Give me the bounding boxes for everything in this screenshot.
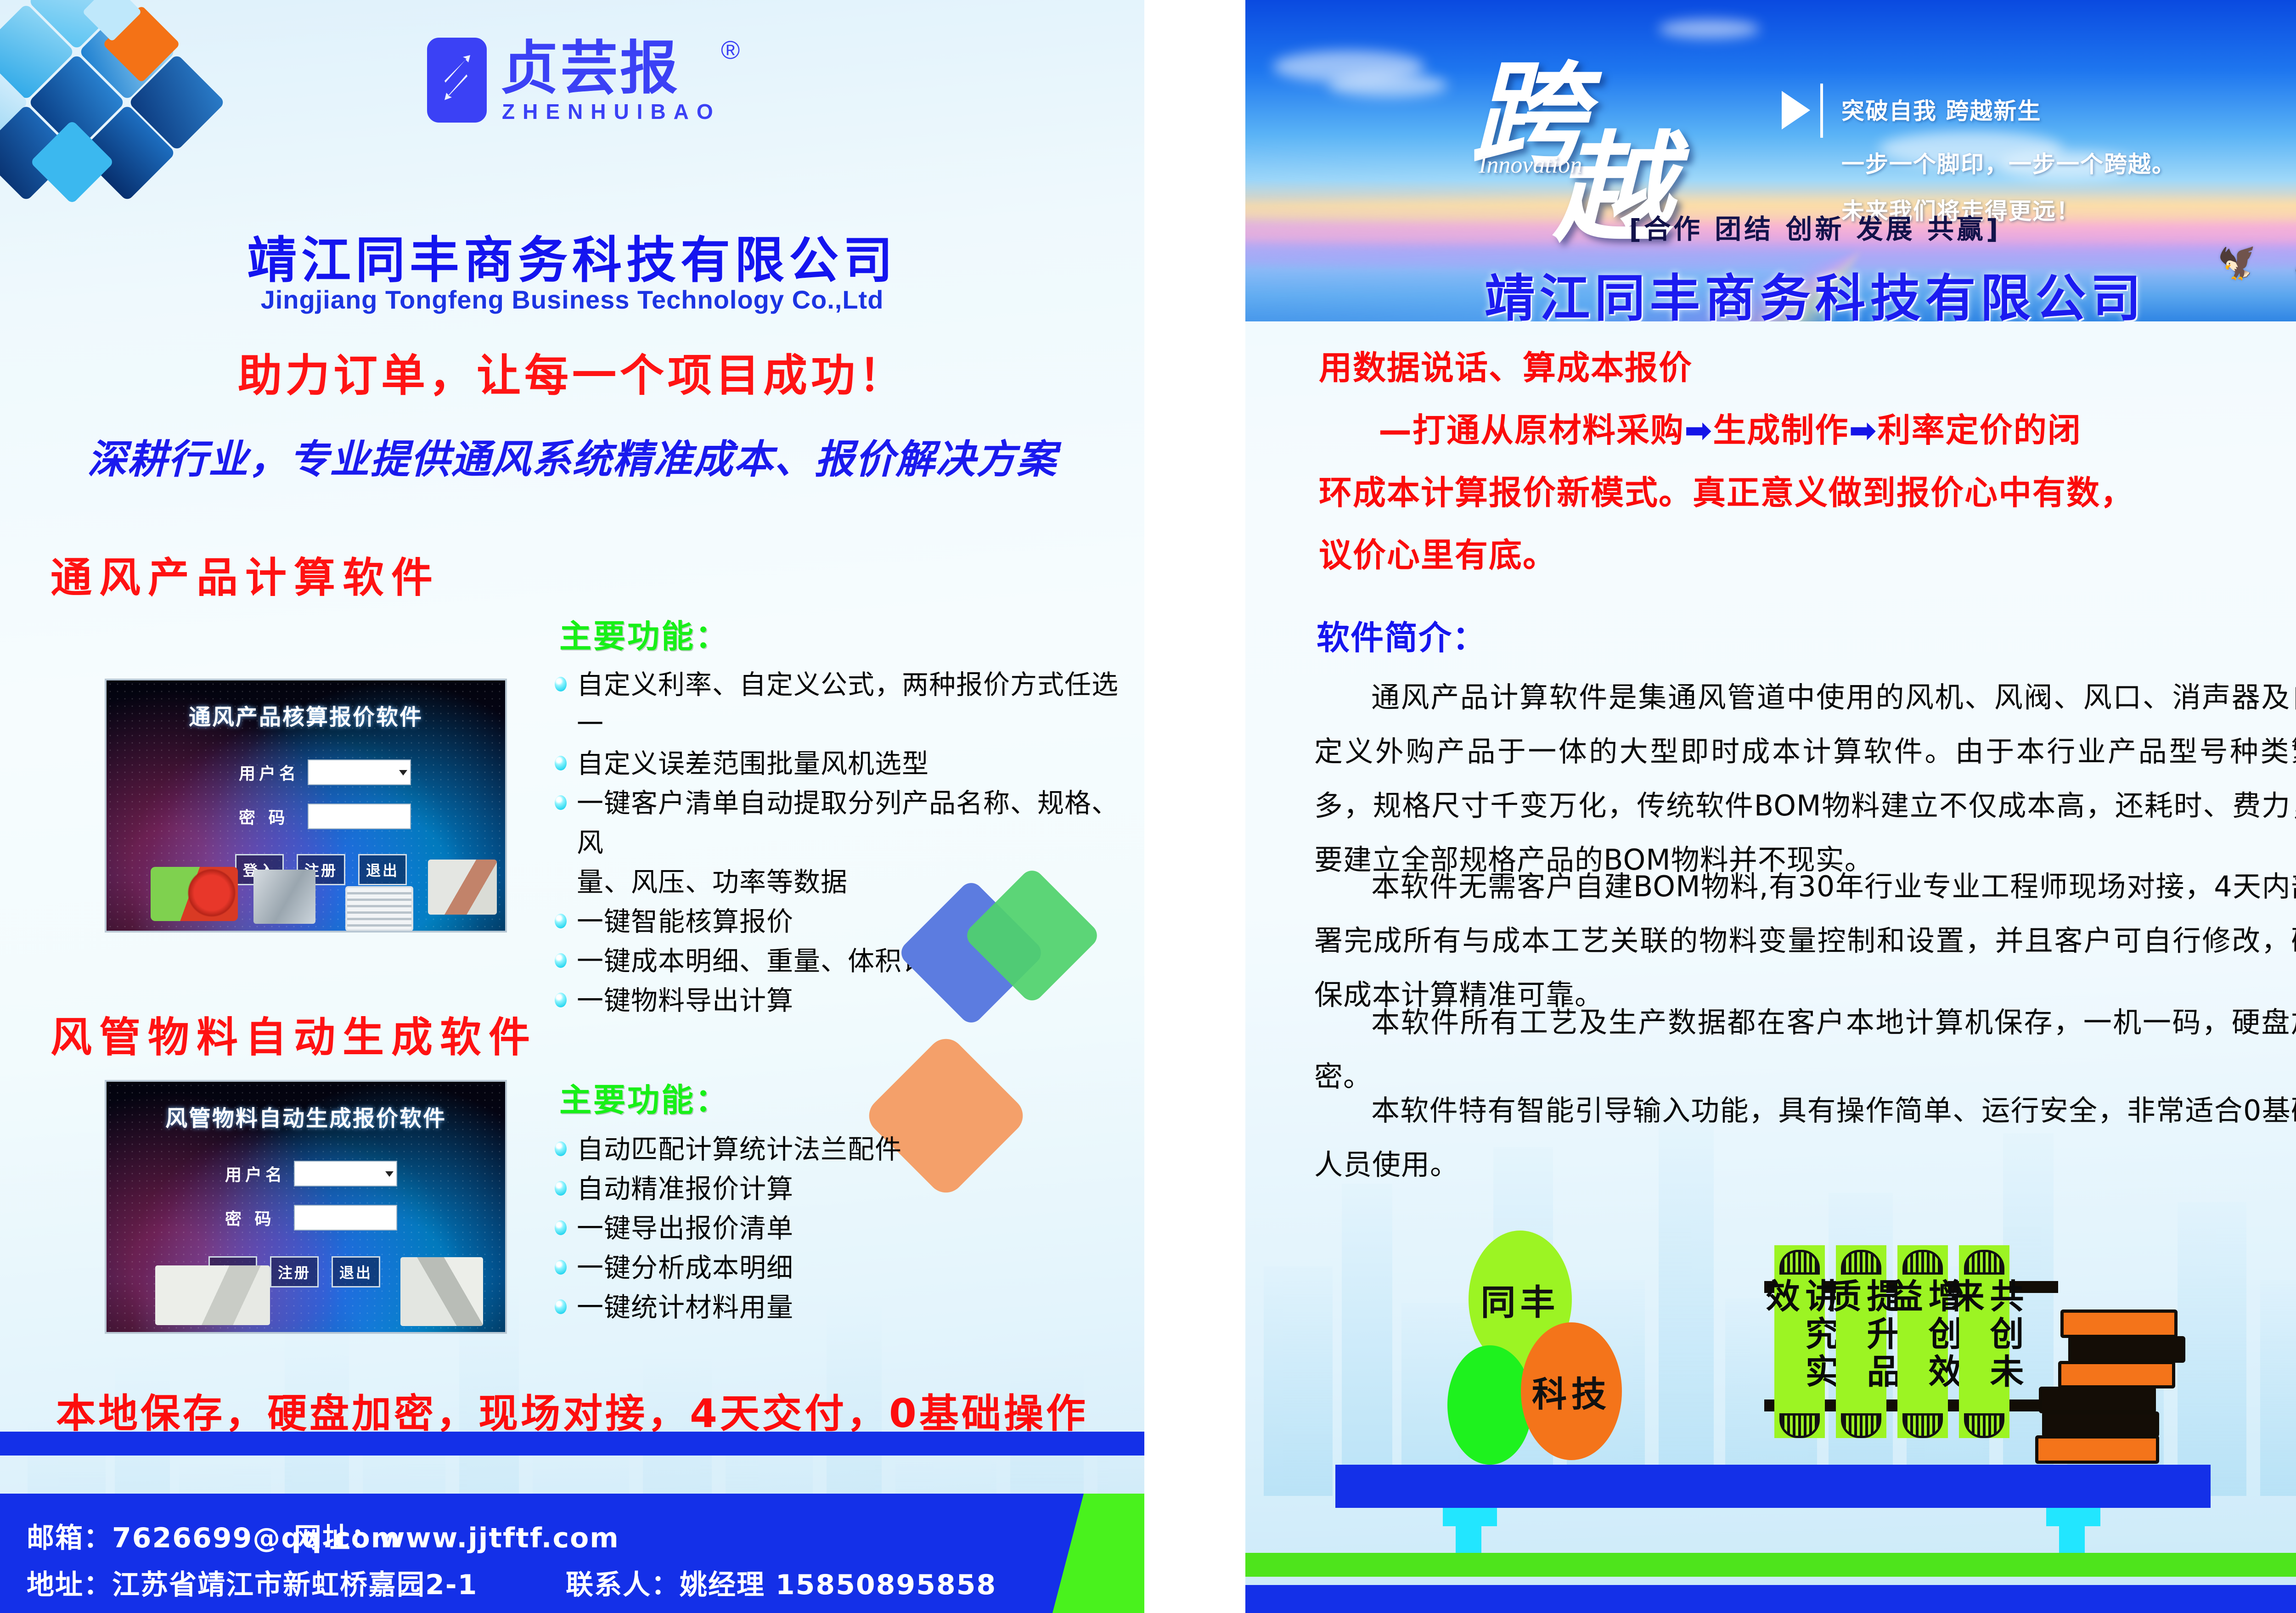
screenshot-2-title: 风管物料自动生成报价软件	[107, 1100, 505, 1132]
scroll-ornament-top-icon	[1841, 1250, 1881, 1275]
scroll-banner-3: 增创效益	[1897, 1245, 1948, 1438]
hero-vertical-rule	[1820, 84, 1823, 138]
right-blue-bar	[1245, 1585, 2296, 1613]
book-icon-1	[2060, 1310, 2178, 1338]
screenshot-1-password-input[interactable]	[308, 804, 411, 829]
play-triangle-icon	[1782, 91, 1810, 129]
brand-logo: 贞芸报 ® ZHENHUIBAO	[427, 37, 785, 124]
list-item: 自动匹配计算统计法兰配件	[551, 1130, 1134, 1169]
screenshot-2-username-label: 用户名	[225, 1162, 294, 1186]
left-divider-bar	[0, 1432, 1144, 1456]
left-bottom-claim: 本地保存，硬盘加密，现场对接，4天交付，0基础操作	[0, 1381, 1144, 1439]
logo-mark-icon	[427, 38, 487, 123]
scroll-ornament-bottom-icon	[1779, 1413, 1820, 1438]
badge-bubble-tongfeng-label: 同丰	[1481, 1274, 1560, 1325]
section-2-features-heading: 主要功能：	[559, 1074, 729, 1121]
flyer-canvas: 贞芸报 ® ZHENHUIBAO 靖江同丰商务科技有限公司 Jingjiang …	[0, 0, 2296, 1613]
rect-duct-product-image	[155, 1265, 270, 1325]
list-item: 一键统计材料用量	[551, 1287, 1134, 1327]
software-screenshot-2: 风管物料自动生成报价软件 用户名 密 码 登入 注册 退出	[105, 1080, 507, 1334]
scroll-ornament-top-icon	[1902, 1250, 1943, 1275]
section-2-title: 风管物料自动生成软件	[51, 1004, 537, 1063]
screenshot-2-password-label: 密 码	[225, 1206, 294, 1230]
right-headline-line1: 用数据说话、算成本报价	[1319, 341, 1693, 389]
screenshot-2-username-input[interactable]	[294, 1161, 397, 1186]
book-icon-2	[2068, 1336, 2185, 1363]
list-item: 一键导出报价清单	[551, 1208, 1134, 1248]
innovation-subtext: Innovation	[1479, 152, 1582, 179]
scroll-banner-4-text: 共创未来	[1945, 1278, 2024, 1405]
scroll-ornament-bottom-icon	[1902, 1413, 1943, 1438]
screenshot-2-password-input[interactable]	[294, 1205, 397, 1231]
hero-core-values: [合作 团结 创新 发展 共赢]	[1245, 208, 2296, 246]
silencer-product-image	[253, 870, 315, 924]
headline-part-c: 利率定价的闭	[1878, 411, 2082, 450]
duct-product-image	[428, 860, 497, 915]
headline-part-a: —打通从原材料采购	[1379, 411, 1684, 450]
arrow-right-icon-1: ➡	[1684, 411, 1713, 450]
screenshot-2-register-button[interactable]: 注册	[270, 1256, 319, 1287]
book-icon-5	[2042, 1411, 2159, 1437]
footer-website: 网址：www.jjtftf.com	[294, 1516, 619, 1556]
hero-tagline-2: 一步一个脚印，一步一个跨越。	[1841, 146, 2176, 179]
left-page: 贞芸报 ® ZHENHUIBAO 靖江同丰商务科技有限公司 Jingjiang …	[0, 0, 1144, 1613]
hero-tagline-1: 突破自我 跨越新生	[1841, 93, 2041, 126]
right-headline-line4: 议价心里有底。	[1319, 528, 1557, 576]
badge-bubble-keji-label: 科技	[1532, 1366, 1611, 1416]
section-1-features-heading: 主要功能：	[559, 611, 729, 657]
footer-address: 地址：江苏省靖江市新虹桥嘉园2-1	[27, 1562, 478, 1602]
scroll-ornament-top-icon	[1964, 1250, 2004, 1275]
screenshot-2-exit-button[interactable]: 退出	[332, 1256, 380, 1287]
footer-email-label: 邮箱：	[27, 1522, 112, 1554]
right-page: 跨 越 Innovation 突破自我 跨越新生 一步一个脚印，一步一个跨越。 …	[1245, 0, 2296, 1613]
footer-web-value[interactable]: www.jjtftf.com	[379, 1522, 619, 1554]
diamond-city-collage	[0, 0, 194, 210]
book-icon-6	[2035, 1435, 2159, 1464]
right-company-name: 靖江同丰商务科技有限公司	[1245, 257, 2296, 321]
seagull-icon-1: 🦅	[2216, 242, 2263, 284]
left-company-name-cn: 靖江同丰商务科技有限公司	[0, 220, 1144, 292]
book-icon-4	[2039, 1387, 2156, 1413]
list-item: 自动精准报价计算	[551, 1169, 1134, 1208]
intro-paragraph-4: 本软件特有智能引导输入功能，具有操作简单、运行安全，非常适合0基础人员使用。	[1314, 1084, 2296, 1192]
left-slogan-blue: 深耕行业，专业提供通风系统精准成本、报价解决方案	[0, 427, 1144, 484]
footer-contact-value[interactable]: 姚经理 15850895858	[680, 1569, 996, 1601]
software-screenshot-1: 通风产品核算报价软件 用户名 密 码 登入 注册 退出	[105, 679, 507, 933]
footer-web-label: 网址：	[294, 1522, 379, 1554]
right-hero-banner: 跨 越 Innovation 突破自我 跨越新生 一步一个脚印，一步一个跨越。 …	[1245, 0, 2296, 321]
screenshot-1-exit-button[interactable]: 退出	[358, 854, 407, 885]
intro-paragraph-1: 通风产品计算软件是集通风管道中使用的风机、风阀、风口、消声器及自定义外购产品于一…	[1314, 670, 2296, 887]
screenshot-1-username-input[interactable]	[308, 759, 411, 785]
software-intro-heading: 软件简介：	[1317, 611, 1486, 659]
air-grille-product-image	[345, 886, 413, 931]
screenshot-1-title: 通风产品核算报价软件	[107, 699, 505, 731]
left-company-name-en: Jingjiang Tongfeng Business Technology C…	[0, 285, 1144, 315]
scroll-banner-2: 提升品质	[1836, 1245, 1886, 1438]
footer-address-value: 江苏省靖江市新虹桥嘉园2-1	[112, 1569, 478, 1601]
footer-green-wedge	[1052, 1494, 1144, 1613]
right-headline-line2: —打通从原材料采购➡生成制作➡利率定价的闭	[1379, 403, 2082, 451]
scroll-ornament-bottom-icon	[1964, 1413, 2004, 1438]
badge-bubble-plain-green	[1447, 1345, 1532, 1465]
bench-top	[1335, 1465, 2211, 1508]
fan-product-image	[151, 867, 238, 921]
badge-bubble-keji: 科技	[1521, 1322, 1622, 1460]
section-1-title: 通风产品计算软件	[51, 544, 440, 604]
footer-contact-label: 联系人：	[566, 1569, 680, 1601]
screenshot-1-password-label: 密 码	[239, 804, 308, 828]
list-item: 自定义利率、自定义公式，两种报价方式任选一	[551, 665, 1134, 744]
registered-trademark-icon: ®	[721, 35, 740, 65]
headline-part-b: 生成制作	[1713, 411, 1849, 450]
right-headline-line3: 环成本计算报价新模式。真正意义做到报价心中有数，	[1319, 466, 2134, 514]
footer-contact: 联系人：姚经理 15850895858	[566, 1562, 996, 1602]
brush-calligraphy-kuayue: 跨 越 Innovation	[1466, 14, 1750, 207]
footer-address-label: 地址：	[27, 1569, 112, 1601]
section-2-feature-list: 自动匹配计算统计法兰配件 自动精准报价计算 一键导出报价清单 一键分析成本明细 …	[551, 1130, 1134, 1327]
logo-english-text: ZHENHUIBAO	[502, 99, 721, 124]
left-footer: 邮箱：7626699@qq.com 网址：www.jjtftf.com 地址：江…	[0, 1494, 1144, 1613]
logo-chinese-text: 贞芸报	[501, 39, 680, 97]
screenshot-1-username-label: 用户名	[239, 760, 308, 784]
scroll-banner-4: 共创未来	[1959, 1245, 2009, 1438]
left-slogan-red: 助力订单，让每一个项目成功！	[0, 340, 1144, 404]
arrow-right-icon-2: ➡	[1849, 411, 1877, 450]
book-icon-3	[2058, 1361, 2175, 1388]
duct-elbow-product-image	[400, 1257, 483, 1326]
list-item: 一键分析成本明细	[551, 1248, 1134, 1287]
scroll-ornament-top-icon	[1779, 1250, 1820, 1275]
right-green-bar	[1245, 1553, 2296, 1577]
scroll-ornament-bottom-icon	[1841, 1413, 1881, 1438]
list-item: 自定义误差范围批量风机选型	[551, 744, 1134, 783]
scroll-banner-1: 讲究实效	[1774, 1245, 1825, 1438]
